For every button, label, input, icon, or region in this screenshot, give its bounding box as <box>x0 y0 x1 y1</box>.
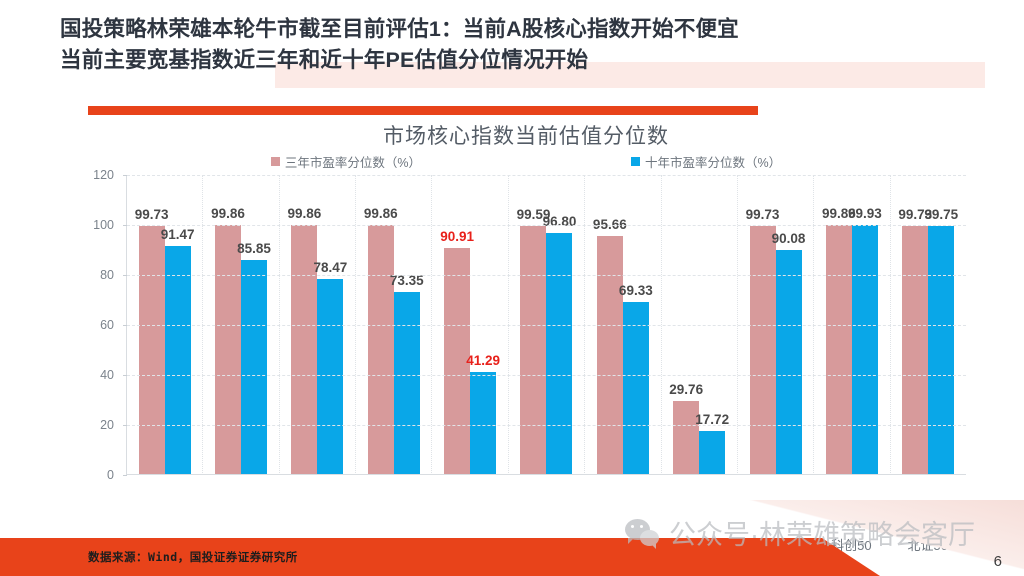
bar-ten-year[interactable]: 85.85 <box>241 260 267 475</box>
y-tick-mark <box>123 275 127 276</box>
bar-value-label: 69.33 <box>619 283 653 298</box>
y-tick-mark <box>123 425 127 426</box>
y-tick-label: 20 <box>100 418 114 432</box>
chart-container: 市场核心指数当前估值分位数 三年市盈率分位数（%） 十年市盈率分位数（%） 02… <box>86 120 966 520</box>
bar-three-year[interactable]: 99.73 <box>750 226 776 475</box>
bar-three-year[interactable]: 99.73 <box>902 226 928 475</box>
y-tick-label: 0 <box>107 468 114 482</box>
bar-ten-year[interactable]: 78.47 <box>317 279 343 475</box>
wechat-icon <box>625 519 659 546</box>
bar-ten-year[interactable]: 90.08 <box>776 250 802 475</box>
y-tick-label: 100 <box>93 218 114 232</box>
bar-value-label: 78.47 <box>313 260 347 275</box>
watermark-text: 公众号·林荣雄策略会客厅 <box>669 513 975 552</box>
gridline <box>127 325 966 326</box>
y-tick-label: 80 <box>100 268 114 282</box>
bar-value-label: 90.91 <box>440 229 474 244</box>
y-axis: 020406080100120 <box>86 175 120 475</box>
y-tick-mark <box>123 475 127 476</box>
y-tick-mark <box>123 225 127 226</box>
gridline <box>127 225 966 226</box>
y-tick-mark <box>123 325 127 326</box>
page-title-line-1: 国投策略林荣雄本轮牛市截至目前评估1：当前A股核心指数开始不便宜 <box>60 14 1024 45</box>
bar-ten-year[interactable]: 96.80 <box>546 233 572 475</box>
bar-value-label: 91.47 <box>161 227 195 242</box>
bar-ten-year[interactable]: 41.29 <box>470 372 496 475</box>
bar-value-label: 96.80 <box>543 214 577 229</box>
plot-area: 020406080100120 99.7391.4799.8685.8599.8… <box>86 175 966 475</box>
y-tick-mark <box>123 375 127 376</box>
source-note: 数据来源：Wind，国投证券证券研究所 <box>88 549 298 565</box>
bar-three-year[interactable]: 99.73 <box>139 226 165 475</box>
bar-ten-year[interactable]: 99.93 <box>852 225 878 475</box>
gridline <box>127 375 966 376</box>
bar-three-year[interactable]: 99.86 <box>368 225 394 475</box>
legend-label-series-1: 三年市盈率分位数（%） <box>285 152 421 171</box>
y-tick-mark <box>123 175 127 176</box>
gridline <box>127 175 966 176</box>
title-underline-bar <box>88 106 758 115</box>
gridline <box>127 425 966 426</box>
legend-swatch-icon-series-1 <box>271 157 280 166</box>
page-number: 6 <box>994 553 1002 570</box>
bar-ten-year[interactable]: 69.33 <box>623 302 649 475</box>
axis-baseline <box>127 474 966 475</box>
bar-three-year[interactable]: 95.66 <box>597 236 623 475</box>
bar-value-label: 85.85 <box>237 241 271 256</box>
bar-ten-year[interactable]: 17.72 <box>699 431 725 475</box>
y-tick-label: 60 <box>100 318 114 332</box>
bar-value-label: 99.86 <box>364 206 398 221</box>
title-block: 国投策略林荣雄本轮牛市截至目前评估1：当前A股核心指数开始不便宜 当前主要宽基指… <box>0 14 1024 76</box>
gridline <box>127 275 966 276</box>
bar-ten-year[interactable]: 73.35 <box>394 292 420 475</box>
bar-value-label: 99.86 <box>287 206 321 221</box>
bar-three-year[interactable]: 99.86 <box>826 225 852 475</box>
bar-value-label: 29.76 <box>669 382 703 397</box>
plot-canvas: 99.7391.4799.8685.8599.8678.4799.8673.35… <box>126 175 966 475</box>
bar-value-label: 99.75 <box>924 207 958 222</box>
bar-value-label: 99.93 <box>848 206 882 221</box>
bar-value-label: 99.73 <box>135 207 169 222</box>
bar-ten-year[interactable]: 99.75 <box>928 226 954 475</box>
legend-item-series-2: 十年市盈率分位数（%） <box>631 152 781 171</box>
legend-label-series-2: 十年市盈率分位数（%） <box>645 152 781 171</box>
bar-three-year[interactable]: 99.59 <box>520 226 546 475</box>
chart-legend: 三年市盈率分位数（%） 十年市盈率分位数（%） <box>86 152 966 171</box>
legend-item-series-1: 三年市盈率分位数（%） <box>271 152 421 171</box>
bar-ten-year[interactable]: 91.47 <box>165 246 191 475</box>
bar-value-label: 41.29 <box>466 353 500 368</box>
bar-value-label: 99.86 <box>211 206 245 221</box>
y-tick-label: 120 <box>93 168 114 182</box>
y-tick-label: 40 <box>100 368 114 382</box>
watermark: 公众号·林荣雄策略会客厅 <box>625 513 975 552</box>
legend-swatch-icon-series-2 <box>631 157 640 166</box>
bar-value-label: 90.08 <box>772 231 806 246</box>
slide: 国投策略林荣雄本轮牛市截至目前评估1：当前A股核心指数开始不便宜 当前主要宽基指… <box>0 0 1024 576</box>
page-title-line-2: 当前主要宽基指数近三年和近十年PE估值分位情况开始 <box>60 45 1024 76</box>
bar-three-year[interactable]: 99.86 <box>215 225 241 475</box>
bar-value-label: 99.73 <box>746 207 780 222</box>
chart-title: 市场核心指数当前估值分位数 <box>86 120 966 150</box>
